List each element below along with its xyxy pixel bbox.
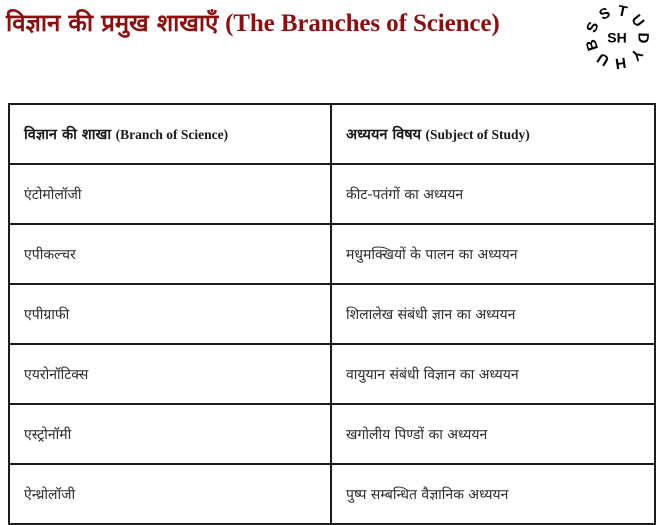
branch-name: ऐन्थ्रोलॉजी (24, 487, 75, 503)
table-header-row: विज्ञान की शाखा (Branch of Science) अध्य… (9, 104, 655, 164)
subject-text: शिलालेख संबंधी ज्ञान का अध्ययन (346, 307, 515, 323)
studyhubs-logo: STUDYHUBS SH (578, 2, 656, 72)
column-header-branch-hindi: विज्ञान की शाखा (24, 127, 111, 143)
logo-ring-letter: T (616, 2, 629, 21)
cell-subject: पुष्प सम्बन्धित वैज्ञानिक अध्ययन (331, 464, 655, 524)
branch-name: एपीग्राफी (24, 307, 69, 323)
column-header-branch: विज्ञान की शाखा (Branch of Science) (9, 104, 331, 164)
subject-text: खगोलीय पिण्डों का अध्ययन (346, 427, 487, 443)
logo-ring-letter: U (627, 11, 647, 30)
cell-branch: एंटोमोलॉजी (9, 164, 331, 224)
cell-branch: एस्ट्रोनॉमी (9, 404, 331, 464)
page-title-hindi: विज्ञान की प्रमुख शाखाएँ (6, 9, 218, 37)
cell-subject: मधुमक्खियों के पालन का अध्ययन (331, 224, 655, 284)
logo-ring-letter: S (583, 19, 603, 35)
logo-center-text: SH (607, 30, 626, 46)
column-header-subject-english: (Subject of Study) (426, 127, 530, 142)
cell-branch: एपीग्राफी (9, 284, 331, 344)
cell-branch: एपीकल्चर (9, 224, 331, 284)
logo-ring-letter: B (582, 37, 602, 53)
column-header-subject: अध्ययन विषय (Subject of Study) (331, 104, 655, 164)
logo-ring-letter: U (594, 49, 612, 69)
table-row: एपीग्राफीशिलालेख संबंधी ज्ञान का अध्ययन (9, 284, 655, 344)
cell-subject: कीट-पतंगों का अध्ययन (331, 164, 655, 224)
page-header: विज्ञान की प्रमुख शाखाएँ (The Branches o… (0, 0, 661, 92)
table-body: एंटोमोलॉजीकीट-पतंगों का अध्ययनएपीकल्चरमध… (9, 164, 655, 524)
table-row: एपीकल्चरमधुमक्खियों के पालन का अध्ययन (9, 224, 655, 284)
logo-ring-letter: D (634, 32, 651, 44)
branch-name: एयरोनॉटिक्स (24, 367, 88, 383)
cell-branch: ऐन्थ्रोलॉजी (9, 464, 331, 524)
branch-name: एस्ट्रोनॉमी (24, 427, 71, 443)
logo-ring-letter: Y (627, 45, 646, 64)
page-title: विज्ञान की प्रमुख शाखाएँ (The Branches o… (6, 6, 578, 42)
table-row: एयरोनॉटिक्सवायुयान संबंधी विज्ञान का अध्… (9, 344, 655, 404)
cell-subject: खगोलीय पिण्डों का अध्ययन (331, 404, 655, 464)
subject-text: कीट-पतंगों का अध्ययन (346, 187, 463, 203)
table-row: ऐन्थ्रोलॉजीपुष्प सम्बन्धित वैज्ञानिक अध्… (9, 464, 655, 524)
cell-subject: वायुयान संबंधी विज्ञान का अध्ययन (331, 344, 655, 404)
subject-text: मधुमक्खियों के पालन का अध्ययन (346, 247, 517, 263)
page-title-english: (The Branches of Science) (225, 10, 500, 37)
branch-name: एंटोमोलॉजी (24, 187, 82, 203)
cell-branch: एयरोनॉटिक्स (9, 344, 331, 404)
branches-of-science-table: विज्ञान की शाखा (Branch of Science) अध्य… (8, 103, 656, 525)
subject-text: वायुयान संबंधी विज्ञान का अध्ययन (346, 367, 519, 383)
table-row: एस्ट्रोनॉमीखगोलीय पिण्डों का अध्ययन (9, 404, 655, 464)
logo-ring-letter: S (596, 4, 613, 24)
logo-ring-letter: H (614, 54, 627, 72)
cell-subject: शिलालेख संबंधी ज्ञान का अध्ययन (331, 284, 655, 344)
subject-text: पुष्प सम्बन्धित वैज्ञानिक अध्ययन (346, 487, 508, 503)
column-header-subject-hindi: अध्ययन विषय (346, 127, 421, 143)
table-row: एंटोमोलॉजीकीट-पतंगों का अध्ययन (9, 164, 655, 224)
branch-name: एपीकल्चर (24, 247, 76, 263)
column-header-branch-english: (Branch of Science) (116, 127, 228, 142)
